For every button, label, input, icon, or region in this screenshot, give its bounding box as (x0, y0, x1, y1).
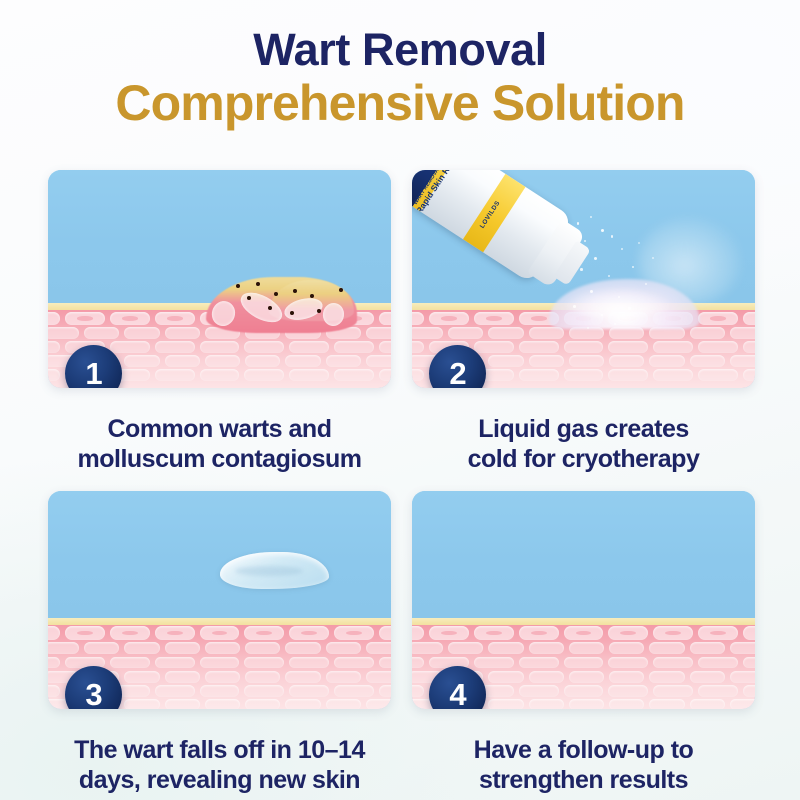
air-layer (412, 491, 755, 620)
page-title-main: Wart Removal (0, 26, 800, 74)
step-1-caption: Common warts and molluscum contagiosum (48, 415, 391, 474)
frost-highlight (563, 288, 673, 319)
step-3-illustration: 3 (48, 491, 391, 709)
wart-lesion (206, 277, 357, 334)
step-2-number: 2 (449, 358, 465, 388)
steps-grid: 1 Common warts and molluscum contagiosum (48, 170, 755, 795)
step-2-illustration: Rapid Skin Repair WART REMOVAL SPRAY PRE… (412, 170, 755, 388)
step-3-number: 3 (85, 679, 101, 709)
detached-wart-scab (220, 552, 330, 589)
step-4: 4 Have a follow-up to strengthen results (412, 491, 755, 795)
air-layer (48, 491, 391, 620)
page-title-sub: Comprehensive Solution (0, 76, 800, 130)
step-4-number: 4 (449, 679, 465, 709)
step-2-caption: Liquid gas creates cold for cryotherapy (412, 415, 755, 474)
step-4-caption: Have a follow-up to strengthen results (412, 736, 755, 795)
step-2: Rapid Skin Repair WART REMOVAL SPRAY PRE… (412, 170, 755, 474)
step-3: 3 The wart falls off in 10–14 days, reve… (48, 491, 391, 795)
step-1: 1 Common warts and molluscum contagiosum (48, 170, 391, 474)
page-header: Wart Removal Comprehensive Solution (0, 0, 800, 130)
step-4-illustration: 4 (412, 491, 755, 709)
step-3-caption: The wart falls off in 10–14 days, reveal… (48, 736, 391, 795)
step-1-number: 1 (85, 358, 101, 388)
step-1-illustration: 1 (48, 170, 391, 388)
